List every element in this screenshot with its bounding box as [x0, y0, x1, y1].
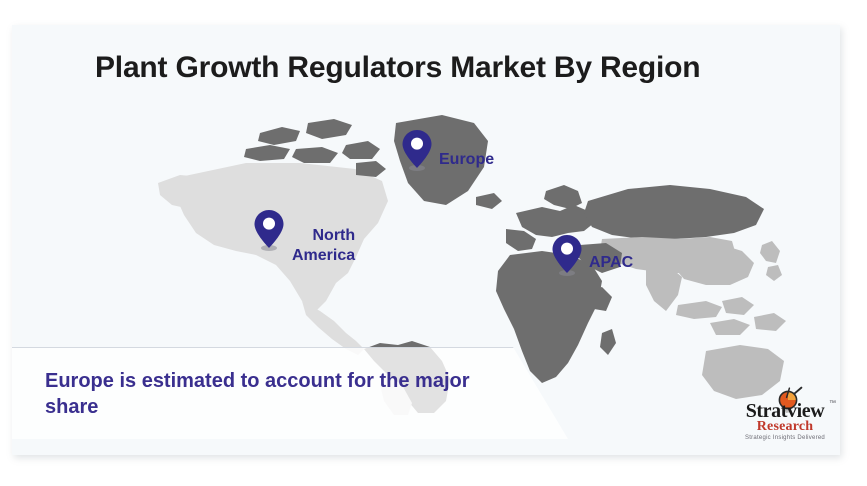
map-pin-icon: [400, 128, 434, 172]
map-marker-north-america[interactable]: North America: [252, 208, 355, 265]
map-pin-icon: [550, 233, 584, 277]
map-marker-label: APAC: [589, 253, 633, 273]
map-marker-label: North America: [292, 226, 355, 265]
map-marker-apac[interactable]: APAC: [550, 233, 633, 277]
brand-logo[interactable]: Stratview ™ Research Strategic Insights …: [733, 386, 837, 444]
map-pin-icon: [252, 208, 286, 252]
logo-tagline: Strategic Insights Delivered: [733, 435, 837, 441]
infographic-canvas: Plant Growth Regulators Market By Region: [0, 0, 867, 486]
page-title: Plant Growth Regulators Market By Region: [95, 51, 700, 85]
caption-text: Europe is estimated to account for the m…: [45, 368, 515, 420]
logo-trademark: ™: [829, 400, 836, 407]
map-marker-europe[interactable]: Europe: [400, 128, 494, 172]
map-marker-label: Europe: [439, 150, 494, 170]
logo-word-research: Research: [733, 419, 837, 435]
